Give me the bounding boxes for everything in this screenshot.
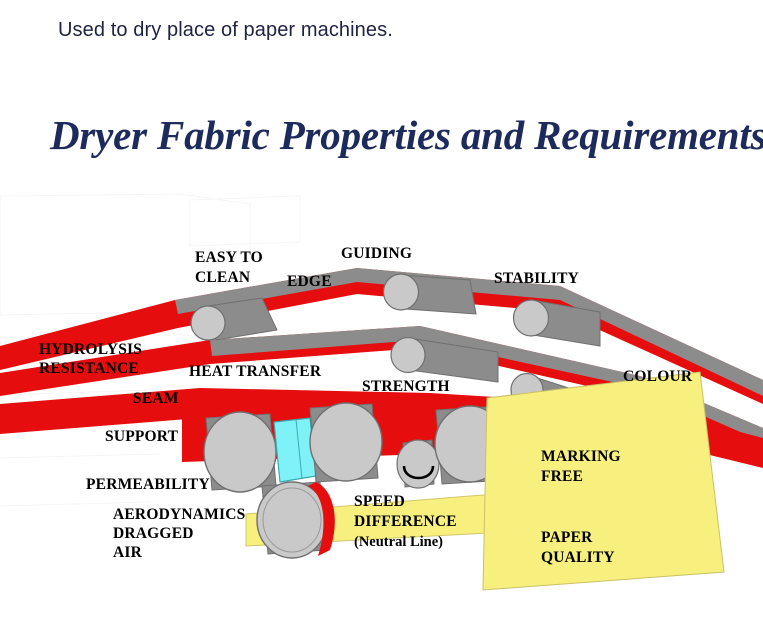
page-title: Dryer Fabric Properties and Requirements [50, 111, 730, 159]
label-edge: EDGE [287, 273, 332, 290]
dryer-cylinder-2 [310, 403, 382, 482]
label-aerodynamics-line1: AERODYNAMICS [113, 506, 245, 523]
label-aerodynamics-line3: AIR [113, 544, 143, 561]
diagram-svg: EASY TO CLEAN GUIDING EDGE STABILITY HYD… [0, 190, 763, 637]
label-hydrolysis-line2: RESISTANCE [39, 360, 139, 377]
dryer-cylinder-1 [204, 412, 276, 492]
label-permeability: PERMEABILITY [86, 476, 210, 493]
pocket-ventilation-area [274, 418, 316, 482]
label-paper-quality-line2: QUALITY [541, 549, 615, 566]
label-marking-free-line2: FREE [541, 468, 583, 485]
dryer-cylinder-bottom [244, 482, 327, 558]
label-strength: STRENGTH [362, 378, 450, 395]
label-speed-difference-line3: (Neutral Line) [354, 534, 443, 550]
label-guiding: GUIDING [341, 245, 412, 262]
label-heat-transfer: HEAT TRANSFER [189, 363, 322, 380]
slide-canvas: Used to dry place of paper machines. Dry… [0, 0, 763, 637]
label-easy-to-clean-line2: CLEAN [195, 269, 250, 286]
label-colour: COLOUR [623, 368, 693, 385]
label-support: SUPPORT [105, 428, 179, 445]
label-paper-quality-line1: PAPER [541, 529, 593, 546]
label-easy-to-clean-line1: EASY TO [195, 249, 263, 266]
dryer-section-diagram: EASY TO CLEAN GUIDING EDGE STABILITY HYD… [0, 190, 763, 637]
label-hydrolysis-line1: HYDROLYSIS [39, 341, 142, 358]
label-aerodynamics-line2: DRAGGED [113, 525, 194, 542]
label-speed-difference-line2: DIFFERENCE [354, 513, 457, 530]
roller-neutral-line [397, 440, 439, 488]
label-seam: SEAM [133, 390, 179, 407]
label-stability: STABILITY [494, 270, 579, 287]
label-speed-difference-line1: SPEED [354, 493, 405, 510]
label-marking-free-line1: MARKING [541, 448, 621, 465]
roller-guiding [384, 274, 477, 314]
slide-subtitle: Used to dry place of paper machines. [58, 19, 393, 42]
